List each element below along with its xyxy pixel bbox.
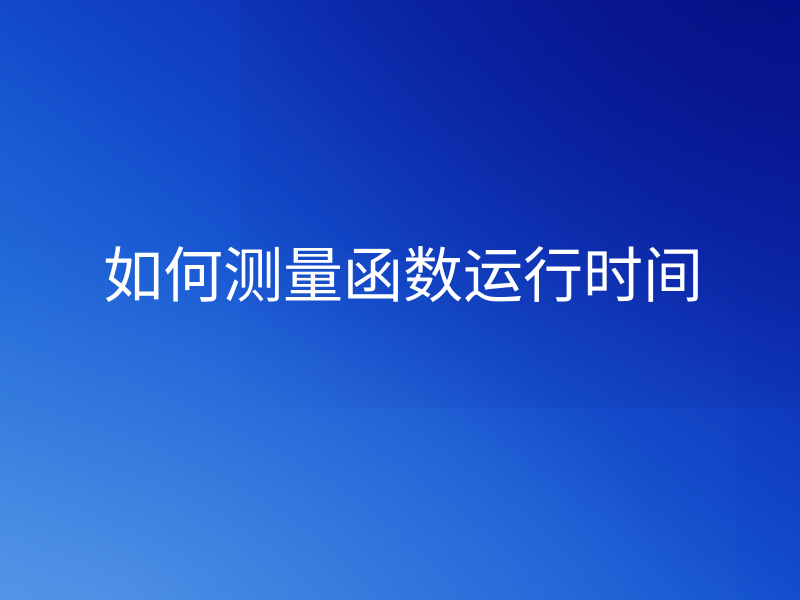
title-slide: 如何测量函数运行时间 [0,0,800,600]
title-block: 如何测量函数运行时间 [0,0,800,600]
page-title: 如何测量函数运行时间 [0,246,703,310]
